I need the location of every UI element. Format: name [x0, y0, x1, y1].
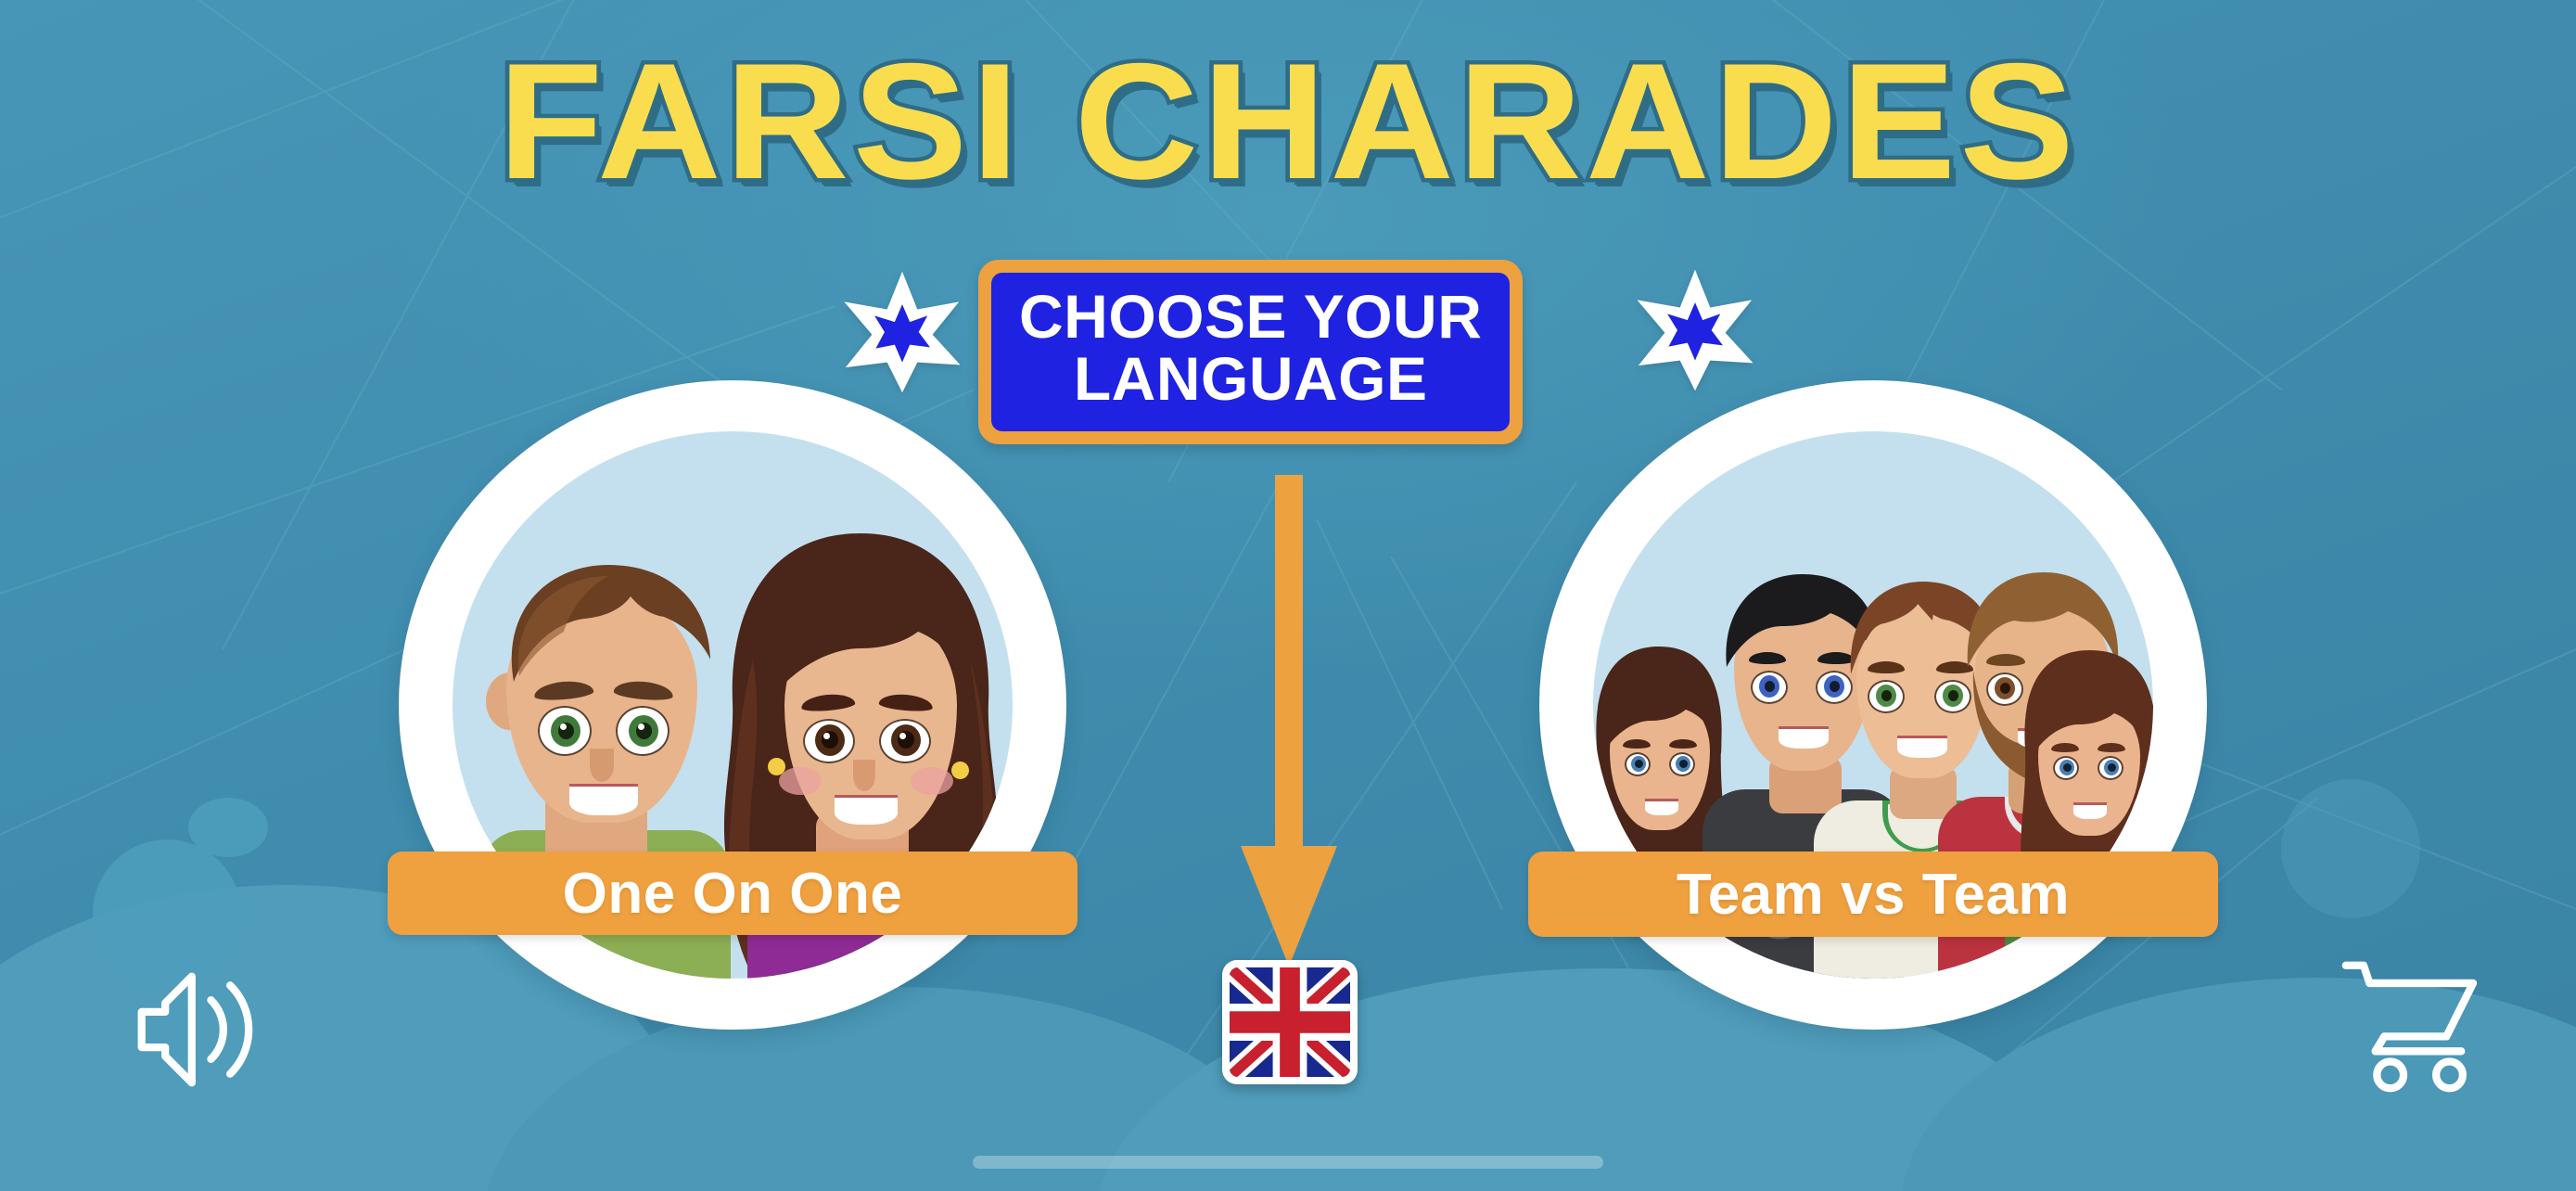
mode-card-one-on-one[interactable]: One On One: [399, 380, 1085, 1030]
language-flag-button[interactable]: [1222, 960, 1358, 1084]
language-hint-bubble: CHOOSE YOUR LANGUAGE: [978, 260, 1523, 444]
app-screen: FARSI CHARADES: [0, 0, 2576, 1191]
sparkle-star-right-icon: [1632, 267, 1758, 393]
home-indicator: [973, 1156, 1603, 1169]
sound-toggle-button[interactable]: [121, 965, 269, 1095]
united-kingdom-flag-icon: [1230, 967, 1350, 1077]
sparkle-star-left-icon: [839, 269, 965, 395]
shop-button[interactable]: [2337, 954, 2485, 1093]
background-bubble: [188, 798, 268, 857]
team-vs-team-label: Team vs Team: [1677, 862, 2070, 928]
background-bubble: [2281, 779, 2420, 918]
one-on-one-label: One On One: [563, 861, 903, 927]
mode-card-team-vs-team[interactable]: 6: [1539, 380, 2225, 1030]
team-vs-team-button[interactable]: Team vs Team: [1528, 852, 2218, 937]
game-title: FARSI CHARADES: [0, 39, 2576, 204]
pointer-arrow-icon: [1224, 475, 1354, 976]
language-hint-line1: CHOOSE YOUR: [1019, 286, 1482, 348]
language-hint-line2: LANGUAGE: [1019, 348, 1482, 410]
one-on-one-button[interactable]: One On One: [388, 852, 1078, 935]
language-hint-body: CHOOSE YOUR LANGUAGE: [991, 273, 1510, 431]
